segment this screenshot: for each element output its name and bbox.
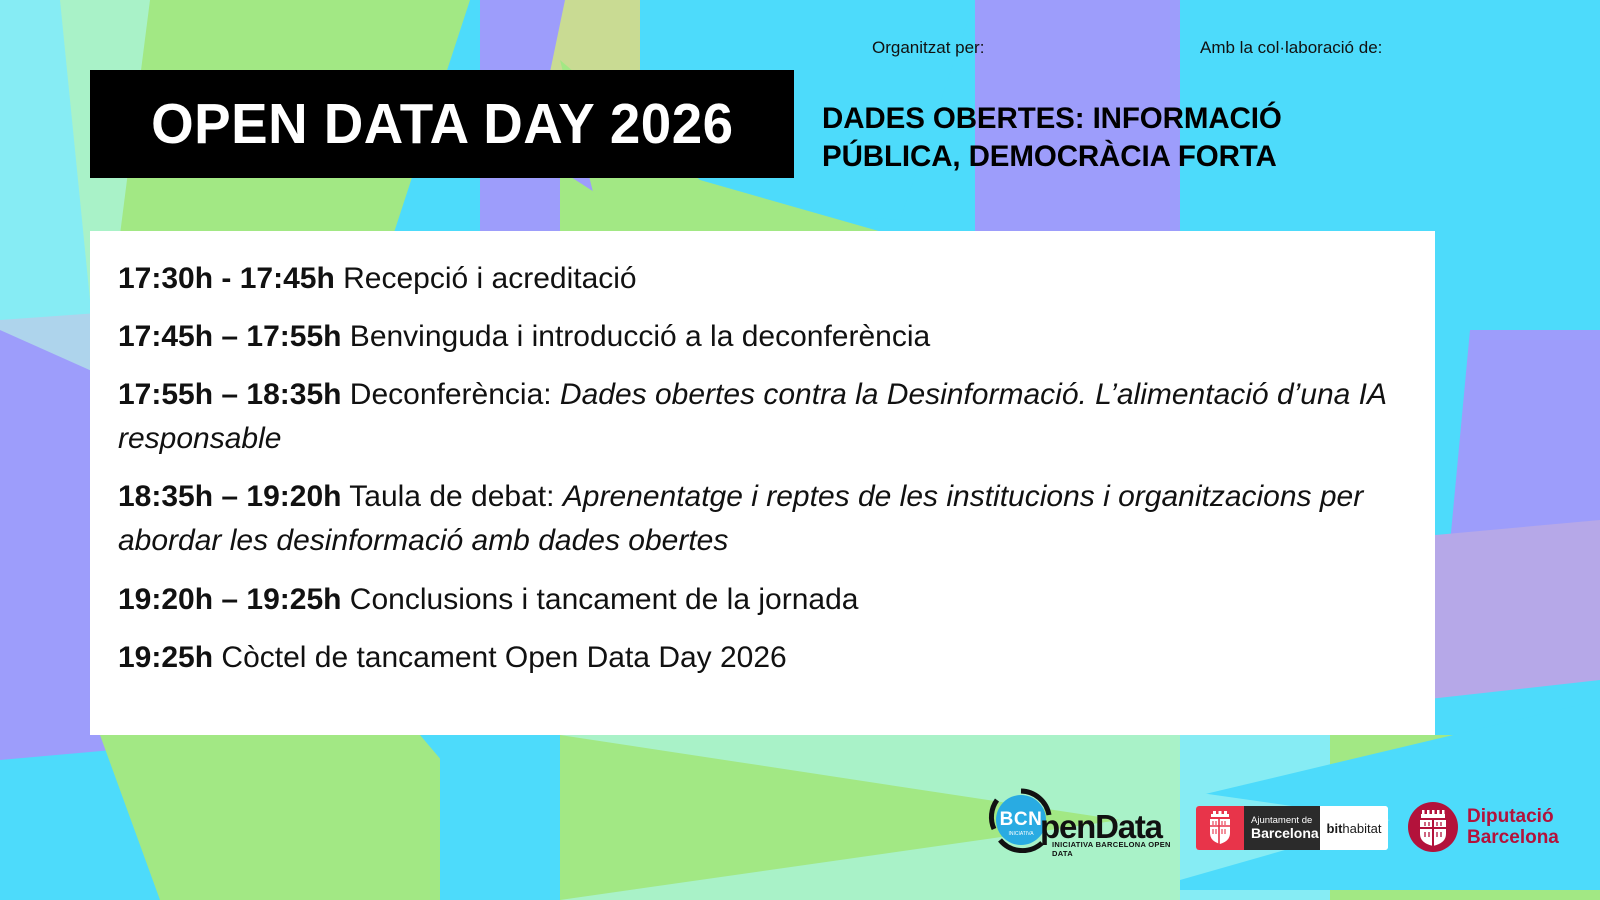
- bithabitat-logo: bithabitat: [1320, 806, 1388, 850]
- agenda-item: 19:20h – 19:25h Conclusions i tancament …: [118, 578, 1413, 622]
- agenda-desc: Còctel de tancament Open Data Day 2026: [213, 641, 787, 674]
- diputacio-line-1: Diputació: [1467, 806, 1559, 827]
- agenda-time: 17:55h – 18:35h: [118, 378, 341, 411]
- diputacio-line-2: Barcelona: [1467, 827, 1559, 848]
- ajuntament-wordmark: Ajuntament de Barcelona: [1244, 806, 1320, 850]
- subtitle-line-2: PÚBLICA, DEMOCRÀCIA FORTA: [822, 138, 1382, 176]
- agenda-list: 17:30h - 17:45h Recepció i acreditació 1…: [118, 257, 1413, 680]
- organizer-label: Organitzat per:: [872, 38, 984, 58]
- agenda-time: 19:25h: [118, 641, 213, 674]
- page-title: OPEN DATA DAY 2026: [151, 96, 733, 153]
- organizer-credit: Organitzat per:: [872, 38, 984, 58]
- collaboration-credit: Amb la col·laboració de:: [1200, 38, 1382, 58]
- ajuntament-barcelona-logo: Ajuntament de Barcelona bithabitat: [1196, 806, 1388, 850]
- svg-text:BCN: BCN: [1000, 809, 1043, 830]
- subtitle-line-1: DADES OBERTES: INFORMACIÓ: [822, 100, 1382, 138]
- agenda-desc: Conclusions i tancament de la jornada: [341, 583, 858, 616]
- ajuntament-line-2: Barcelona: [1251, 826, 1320, 841]
- agenda-time: 18:35h – 19:20h: [118, 480, 341, 513]
- agenda-time: 17:45h – 17:55h: [118, 320, 341, 353]
- diputacio-barcelona-logo: Diputació Barcelona: [1408, 798, 1588, 856]
- diputacio-seal-icon: [1408, 802, 1458, 852]
- title-banner: OPEN DATA DAY 2026: [90, 70, 794, 178]
- poster: OPEN DATA DAY 2026 DADES OBERTES: INFORM…: [0, 0, 1600, 900]
- opendata-logo: BCN INICIATIVA penData INICIATIVA BARCEL…: [988, 787, 1174, 859]
- agenda-desc: Benvinguda i introducció a la deconferèn…: [341, 320, 930, 353]
- agenda-item: 19:25h Còctel de tancament Open Data Day…: [118, 636, 1413, 680]
- agenda-panel: 17:30h - 17:45h Recepció i acreditació 1…: [90, 231, 1435, 735]
- svg-text:INICIATIVA: INICIATIVA: [1008, 831, 1034, 837]
- agenda-time: 19:20h – 19:25h: [118, 583, 341, 616]
- collaboration-label: Amb la col·laboració de:: [1200, 38, 1382, 58]
- agenda-desc: Deconferència:: [341, 378, 559, 411]
- bithabitat-bold: bit: [1327, 821, 1343, 836]
- diputacio-wordmark: Diputació Barcelona: [1467, 806, 1559, 849]
- agenda-desc: Taula de debat:: [341, 480, 562, 513]
- opendata-tagline: INICIATIVA BARCELONA OPEN DATA: [1052, 840, 1174, 858]
- agenda-item: 17:55h – 18:35h Deconferència: Dades obe…: [118, 373, 1413, 461]
- agenda-item: 17:30h - 17:45h Recepció i acreditació: [118, 257, 1413, 301]
- agenda-item: 17:45h – 17:55h Benvinguda i introducció…: [118, 315, 1413, 359]
- agenda-time: 17:30h - 17:45h: [118, 262, 335, 295]
- agenda-item: 18:35h – 19:20h Taula de debat: Aprenent…: [118, 475, 1413, 563]
- subtitle: DADES OBERTES: INFORMACIÓ PÚBLICA, DEMOC…: [822, 100, 1382, 176]
- barcelona-shield-icon: [1196, 806, 1244, 850]
- bithabitat-rest: habitat: [1342, 821, 1381, 836]
- agenda-desc: Recepció i acreditació: [335, 262, 637, 295]
